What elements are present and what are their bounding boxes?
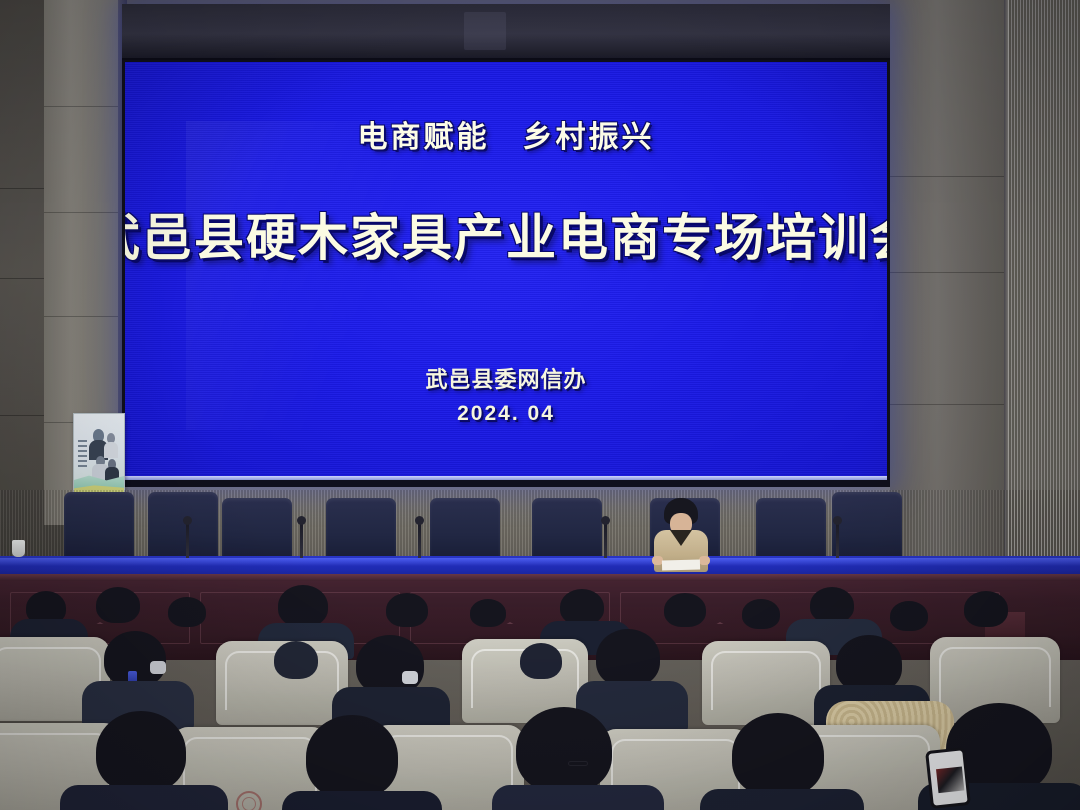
audience-head	[274, 641, 318, 679]
audience-head	[560, 589, 604, 625]
audience-head	[742, 599, 780, 629]
led-screen-frame: 电商赋能 乡村振兴 武邑县硬木家具产业电商专场培训会 武邑县委网信办 2024.…	[122, 4, 890, 487]
eyeglasses	[568, 761, 588, 766]
stage-chair	[532, 498, 602, 560]
audience-head	[96, 587, 140, 623]
seat-emblem	[236, 791, 262, 810]
stage-chair	[756, 498, 826, 560]
microphone	[186, 522, 189, 558]
wall-poster	[73, 413, 125, 493]
audience-head	[732, 713, 824, 797]
audience-seat	[702, 641, 830, 725]
audience-head	[664, 593, 706, 627]
audience-head	[306, 715, 398, 799]
audience-shoulders	[60, 785, 228, 810]
microphone	[836, 522, 839, 558]
stage-chair	[148, 492, 218, 562]
audience-head	[520, 643, 562, 679]
audience-head	[168, 597, 206, 627]
presentation-slide: 电商赋能 乡村振兴 武邑县硬木家具产业电商专场培训会 武邑县委网信办 2024.…	[125, 62, 887, 480]
speaker-at-table	[650, 498, 712, 570]
audience-area	[0, 585, 1080, 810]
microphone	[418, 522, 421, 558]
audience-head	[596, 629, 660, 687]
screen-bezel	[122, 4, 890, 60]
microphone	[300, 522, 303, 558]
audience-head	[356, 635, 424, 695]
audience-shoulders	[282, 791, 442, 810]
audience-head	[386, 593, 428, 627]
audience-head	[810, 587, 854, 623]
conference-photo: 电商赋能 乡村振兴 武邑县硬木家具产业电商专场培训会 武邑县委网信办 2024.…	[0, 0, 1080, 810]
water-cup	[12, 540, 25, 557]
audience-head	[470, 599, 506, 627]
stage-chair	[430, 498, 500, 560]
slide-date: 2024. 04	[457, 402, 555, 426]
speaker-papers	[662, 560, 700, 571]
stage-chair	[832, 492, 902, 562]
bezel-marking	[464, 12, 506, 50]
microphone	[604, 522, 607, 558]
stage-chair	[326, 498, 396, 560]
audience-shoulders	[700, 789, 864, 810]
led-screen: 电商赋能 乡村振兴 武邑县硬木家具产业电商专场培训会 武邑县委网信办 2024.…	[125, 62, 887, 480]
mobile-phone	[925, 747, 971, 809]
audience-head	[890, 601, 928, 631]
stage-chair	[64, 492, 134, 562]
stage-chair	[222, 498, 292, 560]
audience-head	[516, 707, 612, 793]
slide-organizer: 武邑县委网信办	[425, 362, 586, 394]
slide-title: 武邑县硬木家具产业电商专场培训会	[125, 198, 887, 270]
audience-head	[278, 585, 328, 627]
face-mask	[150, 661, 166, 674]
face-mask	[402, 671, 418, 684]
slide-tagline: 电商赋能 乡村振兴	[358, 112, 655, 156]
audience-head	[96, 711, 186, 793]
audience-shoulders	[492, 785, 664, 810]
audience-head	[964, 591, 1008, 627]
